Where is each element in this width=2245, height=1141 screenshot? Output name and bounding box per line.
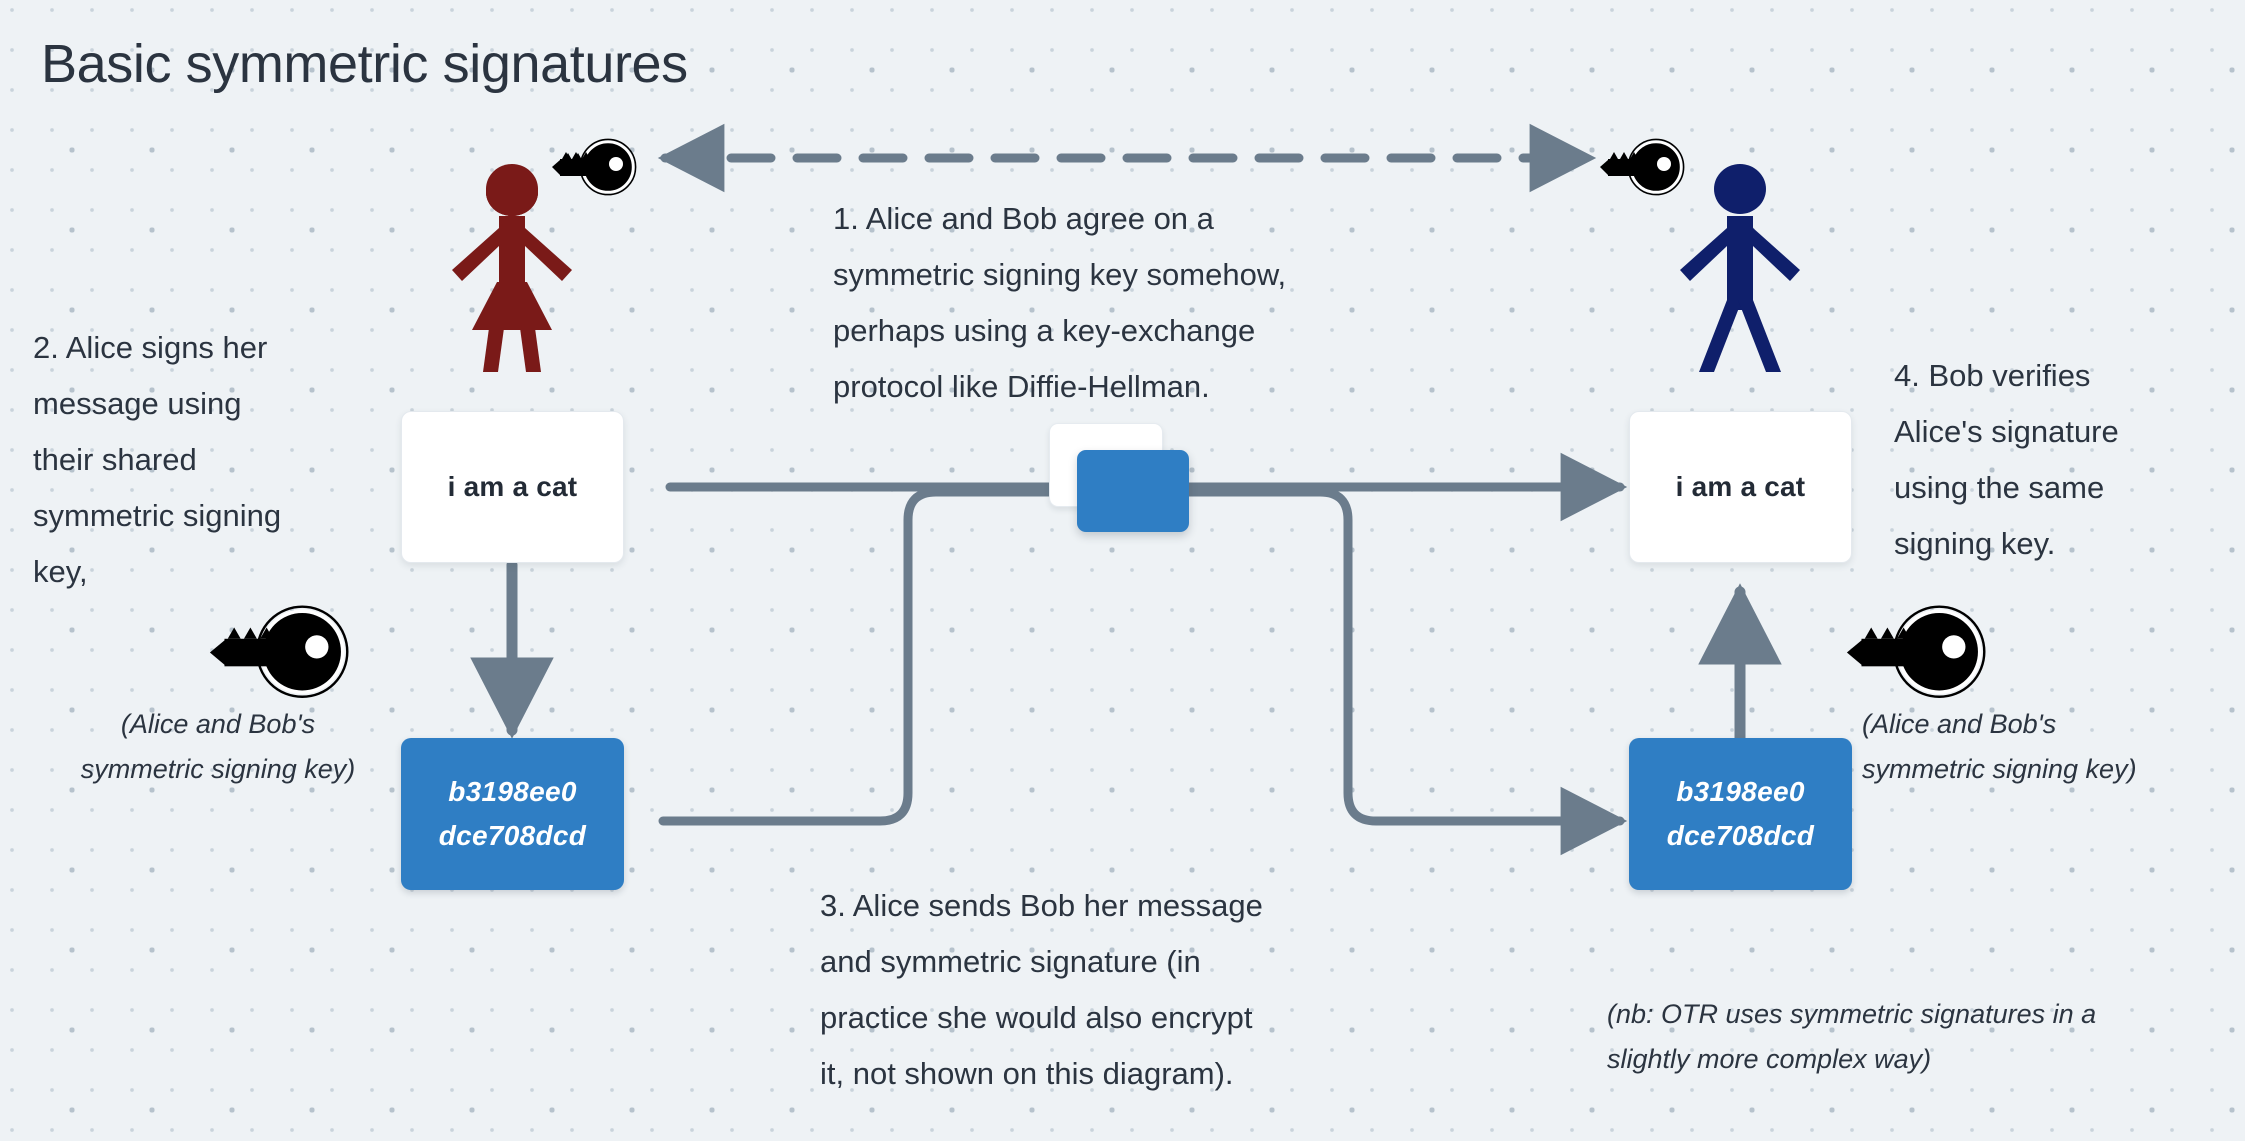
alice-key-icon-top <box>552 139 636 194</box>
page-title: Basic symmetric signatures <box>41 33 688 95</box>
bob-key-icon-top <box>1600 139 1684 194</box>
signature-transfer-connector <box>663 492 1620 821</box>
alice-figure <box>452 164 572 372</box>
bob-signature-box[interactable]: b3198ee0 dce708dcd <box>1629 738 1852 890</box>
alice-signature-box[interactable]: b3198ee0 dce708dcd <box>401 738 624 890</box>
alice-message-box[interactable]: i am a cat <box>401 411 624 563</box>
footnote-text: (nb: OTR uses symmetric signatures in a … <box>1607 992 2245 1082</box>
step-2-text: 2. Alice signs her message using their s… <box>33 320 413 600</box>
alice-key-caption: (Alice and Bob's symmetric signing key) <box>18 702 418 792</box>
step-1-text: 1. Alice and Bob agree on a symmetric si… <box>833 191 1473 415</box>
bob-key-caption: (Alice and Bob's symmetric signing key) <box>1862 702 2245 792</box>
alice-shared-key-icon <box>210 607 347 697</box>
step-4-text: 4. Bob verifies Alice's signature using … <box>1894 348 2234 572</box>
bob-message-box[interactable]: i am a cat <box>1629 411 1852 563</box>
bob-shared-key-icon <box>1847 607 1984 697</box>
bob-figure <box>1680 164 1800 372</box>
step-3-text: 3. Alice sends Bob her message and symme… <box>820 878 1460 1102</box>
signature-crossing-chip <box>1077 450 1189 532</box>
diagram-canvas: Basic symmetric signatures <box>0 0 2245 1141</box>
